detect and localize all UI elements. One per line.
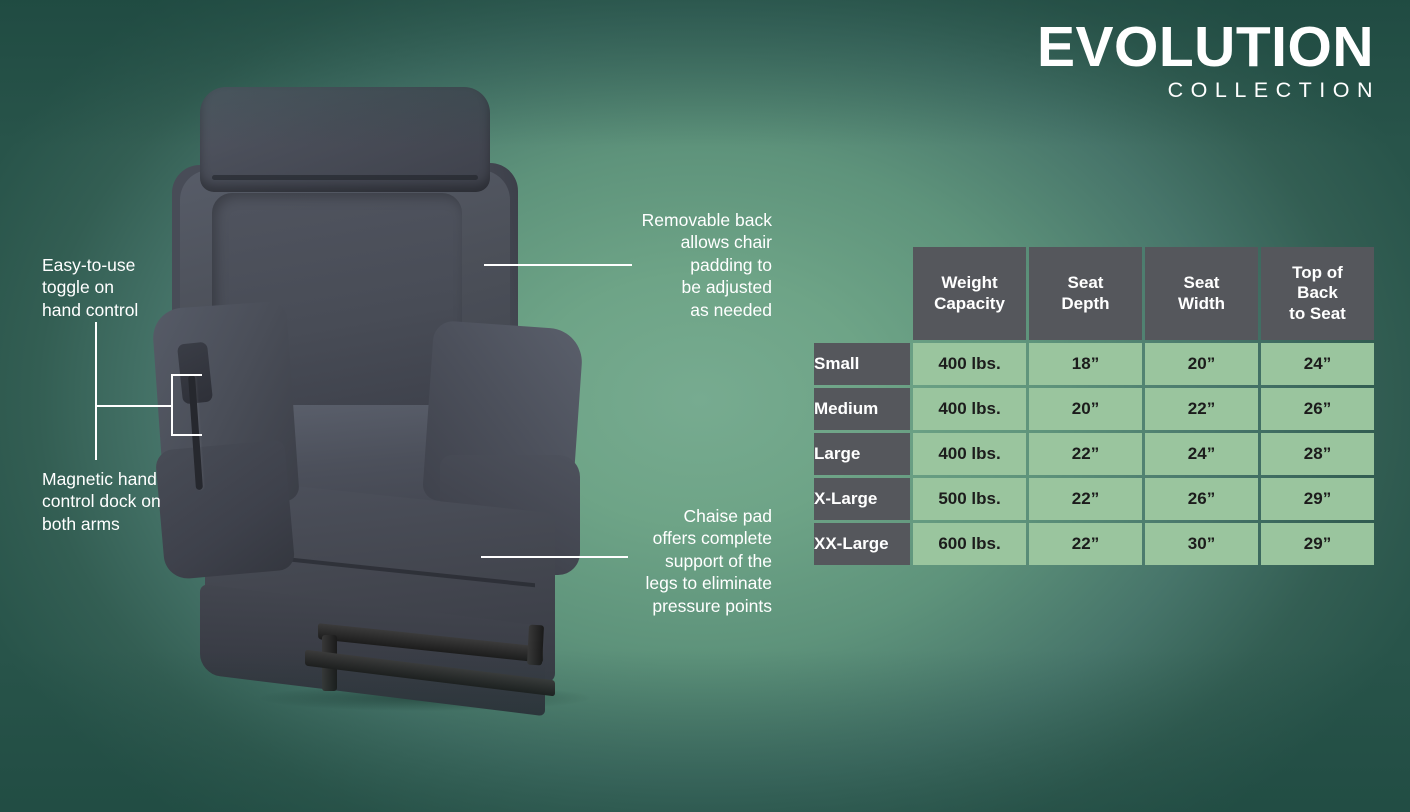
product-image-recliner-chair: [150, 75, 650, 720]
cell-xx-large-seat-width: 30”: [1145, 523, 1258, 565]
cell-medium-weight-capacity: 400 lbs.: [913, 388, 1026, 430]
logo-primary-text: EVOLUTION: [1037, 18, 1374, 76]
leader-line-chaise-pad: [481, 556, 628, 558]
row-header-small: Small: [814, 343, 910, 385]
callout-easy-toggle: Easy-to-use toggle on hand control: [42, 254, 232, 321]
logo-secondary-text: COLLECTION: [1037, 78, 1380, 104]
column-header-seat-depth: Seat Depth: [1029, 247, 1142, 340]
cell-small-top-of-back-to-seat: 24”: [1261, 343, 1374, 385]
table-row: Small 400 lbs. 18” 20” 24”: [814, 343, 1374, 385]
leader-line-left-horizontal: [95, 405, 173, 407]
cell-xx-large-seat-depth: 22”: [1029, 523, 1142, 565]
table-row: Large 400 lbs. 22” 24” 28”: [814, 433, 1374, 475]
brand-logo: EVOLUTION COLLECTION: [1037, 18, 1374, 104]
row-header-large: Large: [814, 433, 910, 475]
cell-x-large-top-of-back-to-seat: 29”: [1261, 478, 1374, 520]
cell-large-seat-width: 24”: [1145, 433, 1258, 475]
leader-line-removable-back: [484, 264, 632, 266]
leader-bracket-stub-bottom: [171, 434, 202, 436]
cell-medium-top-of-back-to-seat: 26”: [1261, 388, 1374, 430]
spec-table-head: Weight Capacity Seat Depth Seat Width To…: [814, 247, 1374, 340]
cell-medium-seat-depth: 20”: [1029, 388, 1142, 430]
spec-table-body: Small 400 lbs. 18” 20” 24” Medium 400 lb…: [814, 343, 1374, 565]
leader-bracket-vertical: [171, 374, 173, 436]
lift-base-leg-right: [527, 625, 544, 666]
column-header-top-of-back-to-seat: Top of Back to Seat: [1261, 247, 1374, 340]
callout-magnetic-dock: Magnetic hand control dock on both arms: [42, 468, 232, 535]
cell-small-seat-depth: 18”: [1029, 343, 1142, 385]
cell-medium-seat-width: 22”: [1145, 388, 1258, 430]
spec-table-header-row: Weight Capacity Seat Depth Seat Width To…: [814, 247, 1374, 340]
row-header-medium: Medium: [814, 388, 910, 430]
table-row: XX-Large 600 lbs. 22” 30” 29”: [814, 523, 1374, 565]
cell-xx-large-weight-capacity: 600 lbs.: [913, 523, 1026, 565]
cell-x-large-seat-depth: 22”: [1029, 478, 1142, 520]
cell-large-top-of-back-to-seat: 28”: [1261, 433, 1374, 475]
cell-large-weight-capacity: 400 lbs.: [913, 433, 1026, 475]
cell-small-weight-capacity: 400 lbs.: [913, 343, 1026, 385]
cell-small-seat-width: 20”: [1145, 343, 1258, 385]
callout-chaise-pad: Chaise pad offers complete support of th…: [620, 505, 772, 617]
callout-removable-back: Removable back allows chair padding to b…: [620, 209, 772, 321]
row-header-xx-large: XX-Large: [814, 523, 910, 565]
table-row: X-Large 500 lbs. 22” 26” 29”: [814, 478, 1374, 520]
cell-xx-large-top-of-back-to-seat: 29”: [1261, 523, 1374, 565]
leader-bracket-stub-top: [171, 374, 202, 376]
cell-large-seat-depth: 22”: [1029, 433, 1142, 475]
spec-table-corner-cell: [814, 247, 910, 340]
table-row: Medium 400 lbs. 20” 22” 26”: [814, 388, 1374, 430]
column-header-seat-width: Seat Width: [1145, 247, 1258, 340]
chair-headrest-seam: [212, 175, 478, 180]
cell-x-large-seat-width: 26”: [1145, 478, 1258, 520]
cell-x-large-weight-capacity: 500 lbs.: [913, 478, 1026, 520]
marketing-graphic: EVOLUTION COLLECTION Easy-to-use toggle …: [0, 0, 1410, 812]
leader-line-left-vertical: [95, 322, 97, 460]
row-header-x-large: X-Large: [814, 478, 910, 520]
specification-table: Weight Capacity Seat Depth Seat Width To…: [811, 244, 1377, 568]
column-header-weight-capacity: Weight Capacity: [913, 247, 1026, 340]
